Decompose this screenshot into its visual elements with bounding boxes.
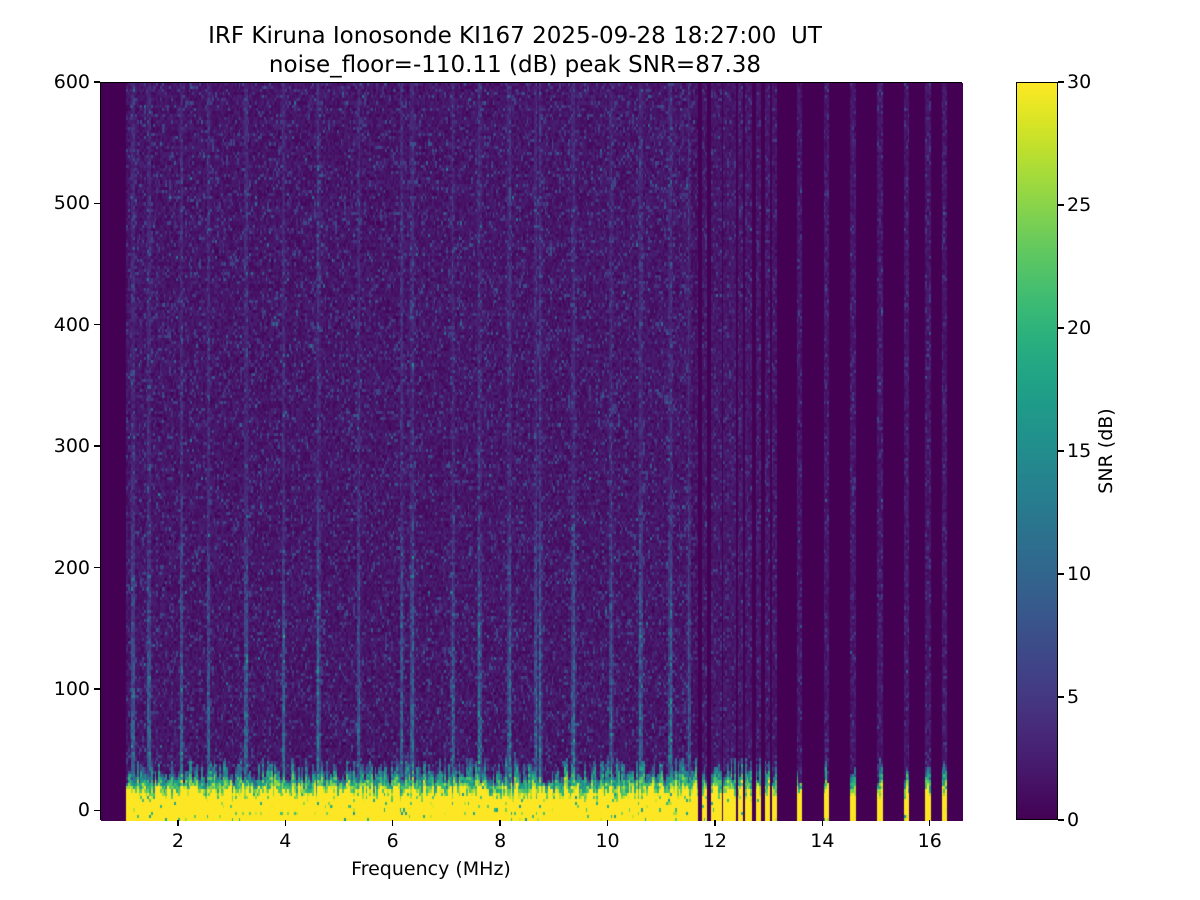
colorbar	[1016, 82, 1058, 820]
colorbar-tick	[1058, 327, 1064, 328]
colorbar-tick	[1058, 450, 1064, 451]
x-axis-tick	[714, 820, 715, 826]
y-axis-tick-label: 500	[54, 192, 90, 214]
colorbar-tick	[1058, 204, 1064, 205]
colorbar-tick-label: 0	[1067, 809, 1079, 831]
y-axis-tick	[94, 445, 100, 446]
x-axis-tick-label: 10	[595, 830, 619, 852]
colorbar-tick-label: 25	[1067, 194, 1091, 216]
y-axis-tick	[94, 203, 100, 204]
x-axis-tick	[285, 820, 286, 826]
colorbar-tick	[1058, 573, 1064, 574]
x-axis-tick-label: 2	[172, 830, 184, 852]
y-axis-tick	[94, 810, 100, 811]
ionogram-heatmap	[101, 83, 963, 821]
colorbar-tick	[1058, 819, 1064, 820]
x-axis-label: Frequency (MHz)	[351, 858, 511, 880]
x-axis-tick-label: 6	[387, 830, 399, 852]
plot-area	[100, 82, 962, 820]
ionogram-figure: IRF Kiruna Ionosonde KI167 2025-09-28 18…	[0, 0, 1200, 900]
x-axis-tick	[822, 820, 823, 826]
colorbar-gradient	[1016, 82, 1058, 820]
y-axis-tick	[94, 324, 100, 325]
colorbar-tick	[1058, 696, 1064, 697]
x-axis-tick-label: 12	[703, 830, 727, 852]
y-axis-tick	[94, 567, 100, 568]
y-axis-tick	[94, 81, 100, 82]
colorbar-tick-label: 20	[1067, 317, 1091, 339]
colorbar-tick-label: 15	[1067, 440, 1091, 462]
colorbar-label: SNR (dB)	[1095, 408, 1117, 493]
x-axis-tick-label: 14	[810, 830, 834, 852]
x-axis-tick	[392, 820, 393, 826]
x-axis-tick-label: 8	[494, 830, 506, 852]
y-axis-tick	[94, 688, 100, 689]
y-axis-tick-label: 0	[78, 799, 90, 821]
colorbar-tick-label: 10	[1067, 563, 1091, 585]
y-axis-tick-label: 100	[54, 678, 90, 700]
x-axis-tick	[607, 820, 608, 826]
x-axis-tick-label: 4	[279, 830, 291, 852]
y-axis-tick-label: 200	[54, 557, 90, 579]
title-line-2: noise_floor=-110.11 (dB) peak SNR=87.38	[0, 51, 1030, 80]
x-axis-tick-label: 16	[918, 830, 942, 852]
figure-title: IRF Kiruna Ionosonde KI167 2025-09-28 18…	[0, 22, 1030, 81]
x-axis-tick	[177, 820, 178, 826]
colorbar-tick	[1058, 81, 1064, 82]
y-axis-tick-label: 300	[54, 435, 90, 457]
x-axis-tick	[499, 820, 500, 826]
colorbar-tick-label: 30	[1067, 71, 1091, 93]
title-line-1: IRF Kiruna Ionosonde KI167 2025-09-28 18…	[0, 22, 1030, 51]
x-axis-tick	[929, 820, 930, 826]
y-axis-tick-label: 600	[54, 71, 90, 93]
colorbar-tick-label: 5	[1067, 686, 1079, 708]
y-axis-tick-label: 400	[54, 314, 90, 336]
